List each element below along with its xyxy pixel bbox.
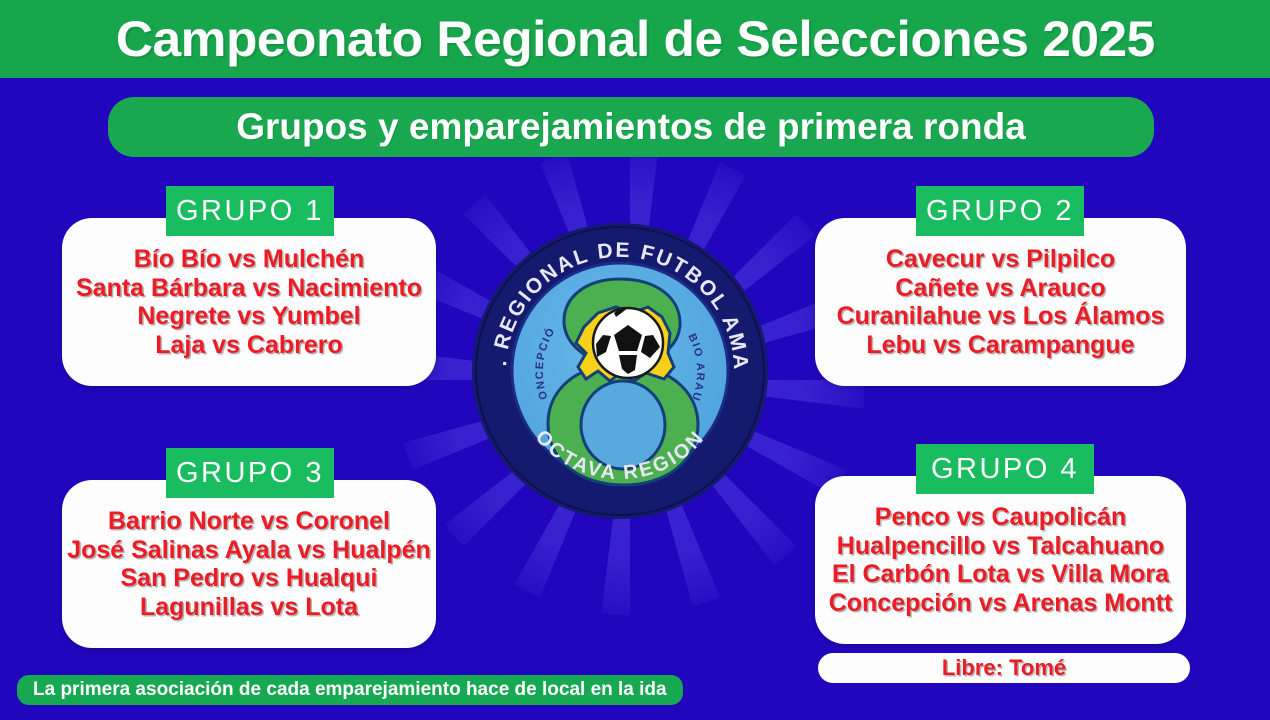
- poster-canvas: Campeonato Regional de Selecciones 2025 …: [0, 0, 1270, 720]
- bye-pill-group-4: Libre: Tomé: [818, 653, 1190, 683]
- footer-note-badge: La primera asociación de cada emparejami…: [17, 675, 683, 705]
- group-label-1: GRUPO 1: [166, 186, 334, 236]
- match-row: Lebu vs Carampangue: [866, 331, 1134, 360]
- footer-note-text: La primera asociación de cada emparejami…: [33, 679, 667, 701]
- group-label-4: GRUPO 4: [916, 444, 1094, 494]
- match-row: Cañete vs Arauco: [895, 274, 1105, 303]
- header-band: Campeonato Regional de Selecciones 2025: [0, 0, 1270, 78]
- group-label-3: GRUPO 3: [166, 448, 334, 498]
- group-card-3: Barrio Norte vs Coronel José Salinas Aya…: [62, 480, 436, 648]
- group-card-1: Bío Bío vs Mulchén Santa Bárbara vs Naci…: [62, 218, 436, 386]
- bye-text: Libre: Tomé: [942, 655, 1066, 681]
- group-card-2: Cavecur vs Pilpilco Cañete vs Arauco Cur…: [815, 218, 1186, 386]
- match-row: Negrete vs Yumbel: [137, 302, 360, 331]
- subtitle-badge: Grupos y emparejamientos de primera rond…: [108, 97, 1154, 157]
- match-row: Barrio Norte vs Coronel: [108, 507, 390, 536]
- match-row: Curanilahue vs Los Álamos: [837, 302, 1165, 331]
- match-row: Hualpencillo vs Talcahuano: [837, 532, 1164, 561]
- match-row: Santa Bárbara vs Nacimiento: [76, 274, 422, 303]
- match-row: El Carbón Lota vs Villa Mora: [832, 560, 1169, 589]
- soccer-ball-icon: [593, 307, 663, 378]
- page-title: Campeonato Regional de Selecciones 2025: [116, 10, 1155, 68]
- association-crest-logo: ASOC. REGIONAL DE FUTBOL AMATEUR OCTAVA …: [470, 221, 770, 521]
- group-card-4: Penco vs Caupolicán Hualpencillo vs Talc…: [815, 476, 1186, 644]
- match-row: Cavecur vs Pilpilco: [886, 245, 1115, 274]
- match-row: José Salinas Ayala vs Hualpén: [67, 536, 431, 565]
- match-row: San Pedro vs Hualqui: [120, 564, 377, 593]
- subtitle-text: Grupos y emparejamientos de primera rond…: [236, 106, 1026, 148]
- group-label-2: GRUPO 2: [916, 186, 1084, 236]
- match-row: Laja vs Cabrero: [155, 331, 343, 360]
- match-row: Lagunillas vs Lota: [140, 593, 358, 622]
- match-row: Bío Bío vs Mulchén: [134, 245, 365, 274]
- match-row: Concepción vs Arenas Montt: [829, 589, 1173, 618]
- match-row: Penco vs Caupolicán: [875, 503, 1126, 532]
